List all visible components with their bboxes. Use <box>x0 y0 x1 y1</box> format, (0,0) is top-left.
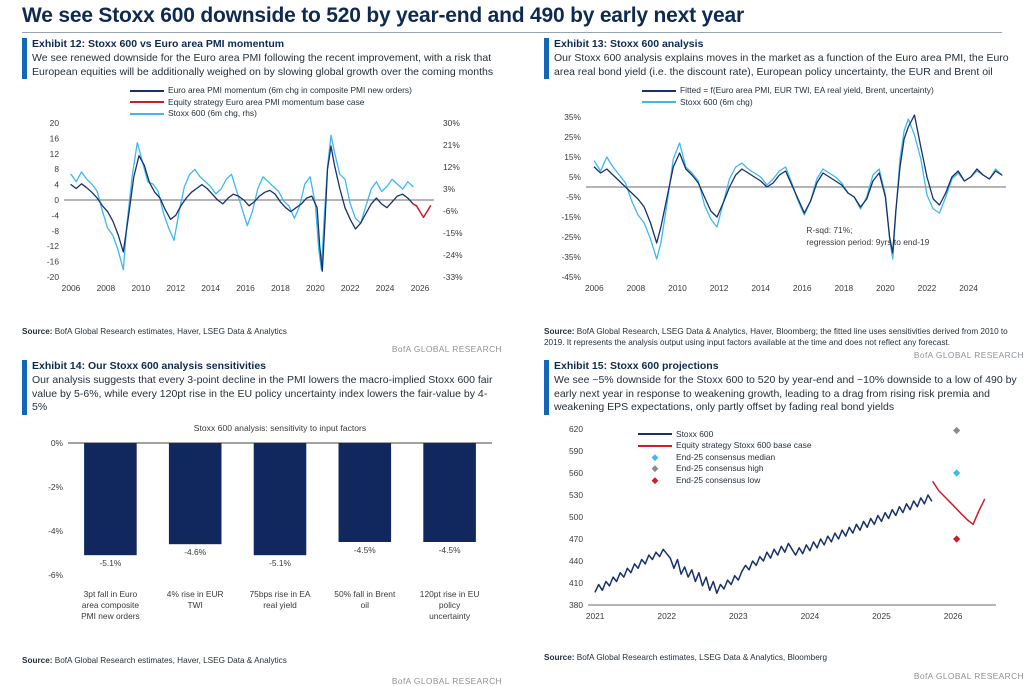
exhibit-13-chart: Fitted = f(Euro area PMI, EUR TWI, EA re… <box>544 79 1024 324</box>
svg-text:2022: 2022 <box>918 283 937 293</box>
svg-text:120pt rise in EU: 120pt rise in EU <box>420 589 480 599</box>
legend-swatch-line <box>642 90 676 92</box>
legend-item: Equity strategy Euro area PMI momentum b… <box>130 97 412 109</box>
svg-text:20: 20 <box>50 118 60 128</box>
exhibit-13-source: Source: BofA Global Research, LSEG Data … <box>544 326 1024 348</box>
svg-text:50% fall in Brent: 50% fall in Brent <box>334 589 396 599</box>
legend-label: Stoxx 600 <box>676 429 713 441</box>
svg-text:8: 8 <box>54 164 59 174</box>
svg-text:PMI new orders: PMI new orders <box>81 611 140 621</box>
accent-bar <box>22 360 27 415</box>
legend-label: Equity strategy Stoxx 600 base case <box>676 440 811 452</box>
svg-text:-4.6%: -4.6% <box>184 547 206 557</box>
exhibit-13-panel: Exhibit 13: Stoxx 600 analysis Our Stoxx… <box>544 38 1024 360</box>
svg-text:25%: 25% <box>564 132 581 142</box>
svg-text:4% rise in EUR: 4% rise in EUR <box>167 589 224 599</box>
exhibit-12-header: Exhibit 12: Stoxx 600 vs Euro area PMI m… <box>22 38 502 79</box>
exhibit-14-chart: Stoxx 600 analysis: sensitivity to input… <box>22 415 502 655</box>
exhibit-15-chart: Stoxx 600 Equity strategy Stoxx 600 base… <box>544 415 1024 650</box>
diamond-icon: ◆ <box>638 464 672 473</box>
exhibit-14-header: Exhibit 14: Our Stoxx 600 analysis sensi… <box>22 360 502 415</box>
exhibit-13-header: Exhibit 13: Stoxx 600 analysis Our Stoxx… <box>544 38 1024 79</box>
exhibit-15-brand: BofA GLOBAL RESEARCH <box>544 671 1024 681</box>
legend-swatch-line <box>642 101 676 103</box>
svg-text:2026: 2026 <box>944 611 963 621</box>
accent-bar <box>544 38 549 79</box>
svg-text:2008: 2008 <box>97 283 116 293</box>
svg-text:regression period: 9yrs to end: regression period: 9yrs to end-19 <box>806 237 929 247</box>
legend-item: Stoxx 600 (6m chg, rhs) <box>130 108 412 120</box>
source-label: Source: <box>22 327 52 336</box>
source-label: Source: <box>544 653 574 662</box>
svg-text:-5.1%: -5.1% <box>99 558 121 568</box>
exhibit-12-subtitle: We see renewed downside for the Euro are… <box>32 52 502 79</box>
svg-text:2020: 2020 <box>876 283 895 293</box>
svg-text:-4%: -4% <box>48 526 63 536</box>
legend-swatch-line <box>130 101 164 103</box>
legend-swatch-line <box>638 445 672 447</box>
source-text: BofA Global Research, LSEG Data & Analyt… <box>544 327 1008 347</box>
svg-text:2006: 2006 <box>62 283 81 293</box>
svg-text:12: 12 <box>50 149 60 159</box>
svg-text:2010: 2010 <box>131 283 150 293</box>
exhibit-14-source: Source: BofA Global Research estimates, … <box>22 655 502 666</box>
svg-text:2010: 2010 <box>668 283 687 293</box>
svg-text:uncertainty: uncertainty <box>429 611 471 621</box>
legend-label: Equity strategy Euro area PMI momentum b… <box>168 97 364 109</box>
source-label: Source: <box>544 327 574 336</box>
svg-text:-2%: -2% <box>48 482 63 492</box>
svg-text:2022: 2022 <box>341 283 360 293</box>
page-title: We see Stoxx 600 downside to 520 by year… <box>22 4 1002 28</box>
svg-text:area composite: area composite <box>82 600 140 610</box>
svg-text:-24%: -24% <box>443 250 463 260</box>
svg-text:590: 590 <box>569 446 583 456</box>
svg-text:2014: 2014 <box>751 283 770 293</box>
svg-text:-16: -16 <box>47 257 59 267</box>
source-text: BofA Global Research estimates, Haver, L… <box>52 327 286 336</box>
svg-text:16: 16 <box>50 133 60 143</box>
legend-label: Stoxx 600 (6m chg, rhs) <box>168 108 257 120</box>
svg-text:oil: oil <box>361 600 370 610</box>
svg-text:380: 380 <box>569 600 583 610</box>
svg-text:-5%: -5% <box>566 192 581 202</box>
svg-text:-4.5%: -4.5% <box>439 545 461 555</box>
legend-item: ◆End-25 consensus low <box>638 475 811 487</box>
exhibit-13-title: Exhibit 13: Stoxx 600 analysis <box>554 38 1024 51</box>
accent-bar <box>544 360 549 415</box>
svg-text:TWI: TWI <box>188 600 203 610</box>
legend-label: Stoxx 600 (6m chg) <box>680 97 753 109</box>
svg-text:21%: 21% <box>443 140 460 150</box>
exhibit-14-brand: BofA GLOBAL RESEARCH <box>22 676 502 686</box>
svg-text:30%: 30% <box>443 118 460 128</box>
svg-text:0: 0 <box>54 195 59 205</box>
svg-text:-6%: -6% <box>48 570 63 580</box>
legend-label: Fitted = f(Euro area PMI, EUR TWI, EA re… <box>680 85 934 97</box>
exhibit-12-panel: Exhibit 12: Stoxx 600 vs Euro area PMI m… <box>22 38 502 354</box>
svg-text:2024: 2024 <box>959 283 978 293</box>
svg-text:2023: 2023 <box>729 611 748 621</box>
exhibit-14-title: Exhibit 14: Our Stoxx 600 analysis sensi… <box>32 360 502 373</box>
svg-text:R-sqd: 71%;: R-sqd: 71%; <box>806 225 852 235</box>
svg-text:12%: 12% <box>443 162 460 172</box>
svg-text:2024: 2024 <box>376 283 395 293</box>
exhibit-14-panel: Exhibit 14: Our Stoxx 600 analysis sensi… <box>22 360 502 686</box>
legend-label: End-25 consensus median <box>676 452 775 464</box>
exhibit-15-source: Source: BofA Global Research estimates, … <box>544 652 1024 663</box>
legend-item: Fitted = f(Euro area PMI, EUR TWI, EA re… <box>642 85 934 97</box>
exhibit-14-subtitle: Our analysis suggests that every 3-point… <box>32 374 502 415</box>
exhibit-15-subtitle: We see ~5% downside for the Stoxx 600 to… <box>554 374 1024 415</box>
svg-text:-45%: -45% <box>561 272 581 282</box>
svg-text:-4: -4 <box>52 210 60 220</box>
accent-bar <box>22 38 27 79</box>
exhibit-12-chart: Euro area PMI momentum (6m chg in compos… <box>22 79 502 324</box>
exhibit-12-source: Source: BofA Global Research estimates, … <box>22 326 502 337</box>
svg-text:0%: 0% <box>51 438 64 448</box>
svg-text:2025: 2025 <box>872 611 891 621</box>
svg-text:-15%: -15% <box>561 212 581 222</box>
exhibit-14-svg: Stoxx 600 analysis: sensitivity to input… <box>22 415 502 655</box>
exhibit-15-header: Exhibit 15: Stoxx 600 projections We see… <box>544 360 1024 415</box>
svg-text:2014: 2014 <box>201 283 220 293</box>
svg-text:-33%: -33% <box>443 272 463 282</box>
svg-text:2006: 2006 <box>585 283 604 293</box>
exhibit-13-subtitle: Our Stoxx 600 analysis explains moves in… <box>554 52 1024 79</box>
svg-text:2018: 2018 <box>271 283 290 293</box>
exhibit-15-title: Exhibit 15: Stoxx 600 projections <box>554 360 1024 373</box>
diamond-icon: ◆ <box>638 453 672 462</box>
svg-text:530: 530 <box>569 490 583 500</box>
svg-text:3pt fall in Euro: 3pt fall in Euro <box>84 589 138 599</box>
exhibit-12-legend: Euro area PMI momentum (6m chg in compos… <box>130 85 412 120</box>
svg-text:2024: 2024 <box>801 611 820 621</box>
legend-item: Equity strategy Stoxx 600 base case <box>638 440 811 452</box>
svg-text:2020: 2020 <box>306 283 325 293</box>
legend-item: Euro area PMI momentum (6m chg in compos… <box>130 85 412 97</box>
svg-text:3%: 3% <box>443 184 456 194</box>
svg-text:15%: 15% <box>564 152 581 162</box>
svg-text:5%: 5% <box>569 172 582 182</box>
svg-text:policy: policy <box>439 600 461 610</box>
exhibit-13-svg: 35%25%15%5%-5%-15%-25%-35%-45%2006200820… <box>544 79 1024 324</box>
svg-text:-25%: -25% <box>561 232 581 242</box>
svg-text:-12: -12 <box>47 241 59 251</box>
svg-text:Stoxx 600 analysis: sensitivit: Stoxx 600 analysis: sensitivity to input… <box>194 423 366 433</box>
svg-text:35%: 35% <box>564 112 581 122</box>
exhibit-15-legend: Stoxx 600 Equity strategy Stoxx 600 base… <box>638 429 811 487</box>
exhibit-15-panel: Exhibit 15: Stoxx 600 projections We see… <box>544 360 1024 681</box>
svg-text:real yield: real yield <box>263 600 297 610</box>
legend-swatch-line <box>130 113 164 115</box>
svg-text:2016: 2016 <box>793 283 812 293</box>
exhibit-13-brand: BofA GLOBAL RESEARCH <box>544 350 1024 360</box>
source-text: BofA Global Research estimates, Haver, L… <box>52 656 286 665</box>
svg-text:4: 4 <box>54 180 59 190</box>
diamond-icon: ◆ <box>638 476 672 485</box>
svg-text:440: 440 <box>569 556 583 566</box>
svg-text:2016: 2016 <box>236 283 255 293</box>
svg-text:-5.1%: -5.1% <box>269 558 291 568</box>
svg-text:-6%: -6% <box>443 206 458 216</box>
exhibit-12-brand: BofA GLOBAL RESEARCH <box>22 344 502 354</box>
svg-text:410: 410 <box>569 578 583 588</box>
legend-label: End-25 consensus high <box>676 463 764 475</box>
svg-text:2022: 2022 <box>657 611 676 621</box>
svg-text:500: 500 <box>569 512 583 522</box>
svg-text:-4.5%: -4.5% <box>354 545 376 555</box>
svg-text:2012: 2012 <box>710 283 729 293</box>
exhibit-12-title: Exhibit 12: Stoxx 600 vs Euro area PMI m… <box>32 38 502 51</box>
title-divider <box>22 32 1002 33</box>
svg-text:470: 470 <box>569 534 583 544</box>
svg-text:-15%: -15% <box>443 228 463 238</box>
svg-text:75bps rise in EA: 75bps rise in EA <box>250 589 311 599</box>
svg-text:560: 560 <box>569 468 583 478</box>
svg-text:-8: -8 <box>52 226 60 236</box>
svg-text:2008: 2008 <box>627 283 646 293</box>
legend-item: Stoxx 600 <box>638 429 811 441</box>
svg-text:-20: -20 <box>47 272 59 282</box>
legend-label: End-25 consensus low <box>676 475 760 487</box>
exhibit-13-legend: Fitted = f(Euro area PMI, EUR TWI, EA re… <box>642 85 934 108</box>
source-text: BofA Global Research estimates, LSEG Dat… <box>574 653 827 662</box>
svg-text:2026: 2026 <box>411 283 430 293</box>
svg-text:2018: 2018 <box>835 283 854 293</box>
legend-item: Stoxx 600 (6m chg) <box>642 97 934 109</box>
svg-text:2021: 2021 <box>586 611 605 621</box>
legend-item: ◆End-25 consensus high <box>638 463 811 475</box>
svg-text:620: 620 <box>569 424 583 434</box>
source-label: Source: <box>22 656 52 665</box>
legend-label: Euro area PMI momentum (6m chg in compos… <box>168 85 412 97</box>
svg-text:2012: 2012 <box>166 283 185 293</box>
svg-text:-35%: -35% <box>561 252 581 262</box>
legend-swatch-line <box>130 90 164 92</box>
legend-swatch-line <box>638 433 672 435</box>
legend-item: ◆End-25 consensus median <box>638 452 811 464</box>
